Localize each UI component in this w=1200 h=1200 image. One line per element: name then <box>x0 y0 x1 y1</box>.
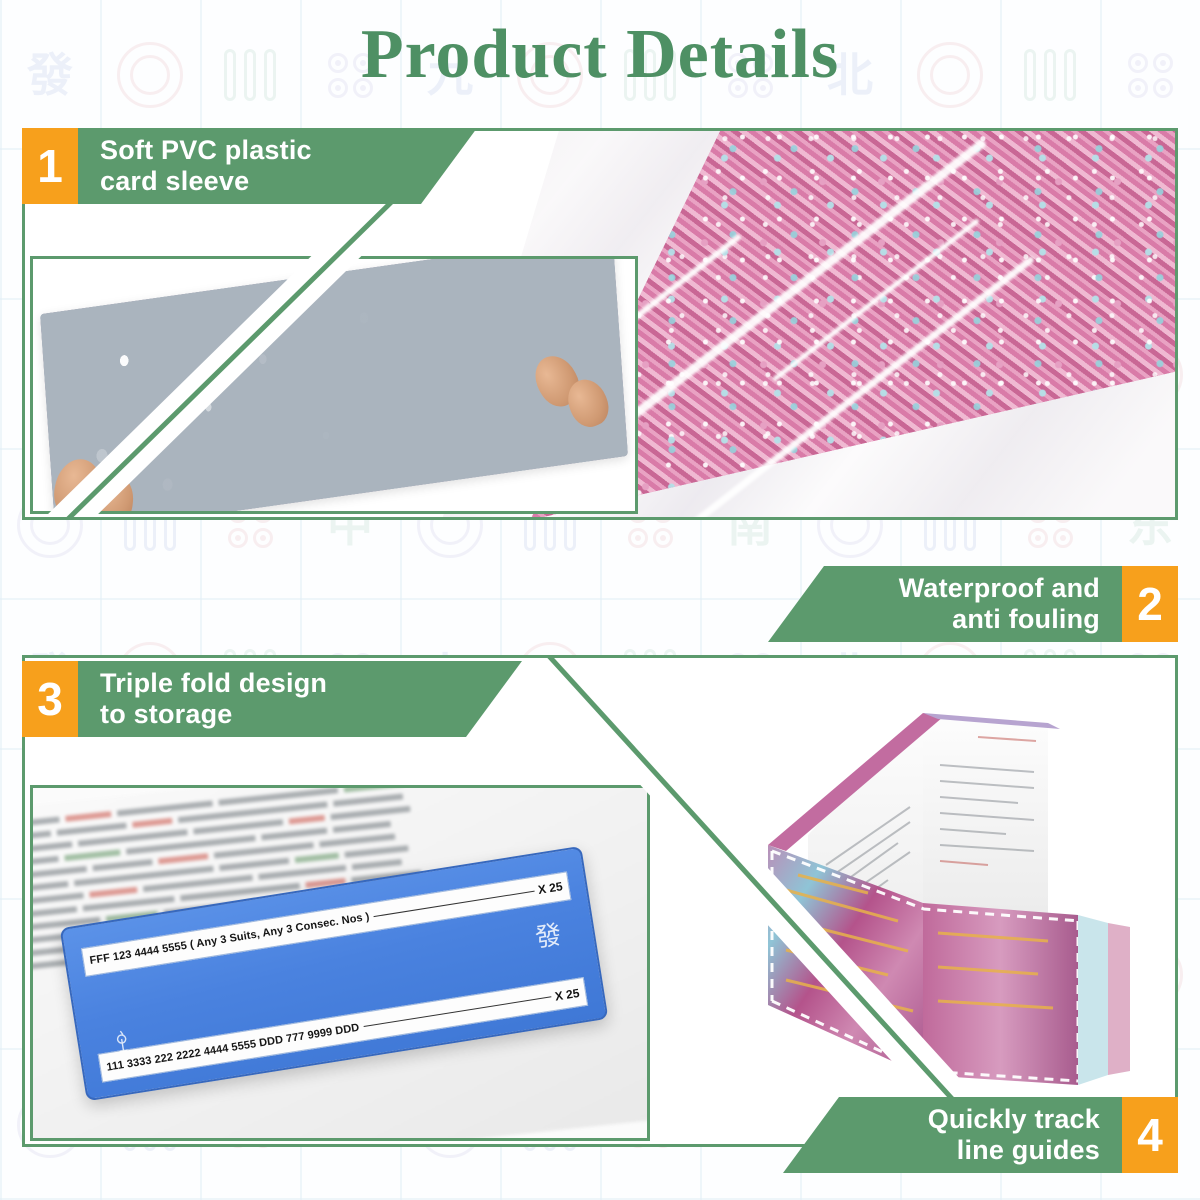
feature-banner-4[interactable]: Quickly track line guides 4 <box>783 1097 1178 1173</box>
line-guide-top-value: X 25 <box>537 879 564 897</box>
line-guide-photo: FFF 123 4444 5555 ( Any 3 Suits, Any 3 C… <box>30 785 650 1141</box>
feature-label-3-line2: to storage <box>100 699 327 730</box>
mahjong-character: 發 <box>532 914 563 955</box>
feature-label-4-line1: Quickly track <box>928 1104 1100 1135</box>
feature-label-1: Soft PVC plastic card sleeve <box>78 128 477 204</box>
feature-label-1-line1: Soft PVC plastic <box>100 135 312 166</box>
bird-icon <box>110 1028 136 1057</box>
feature-label-2-line1: Waterproof and <box>899 573 1100 604</box>
waterproof-sleeve-photo <box>30 256 638 514</box>
feature-label-3-line1: Triple fold design <box>100 668 327 699</box>
trifold-wallet-art <box>748 675 1148 1095</box>
feature-banner-2[interactable]: Waterproof and anti fouling 2 <box>768 566 1178 642</box>
feature-label-1-line2: card sleeve <box>100 166 312 197</box>
line-guide-bottom-value: X 25 <box>554 986 581 1004</box>
feature-banner-3[interactable]: 3 Triple fold design to storage <box>22 661 522 737</box>
feature-label-4: Quickly track line guides <box>783 1097 1122 1173</box>
slot-leader-line <box>363 997 551 1028</box>
feature-label-2: Waterproof and anti fouling <box>768 566 1122 642</box>
feature-label-3: Triple fold design to storage <box>78 661 522 737</box>
feature-banner-1[interactable]: 1 Soft PVC plastic card sleeve <box>22 128 477 204</box>
title-bar: Product Details <box>0 18 1200 92</box>
line-guide-top-text: FFF 123 4444 5555 ( Any 3 Suits, Any 3 C… <box>89 911 371 967</box>
slot-leader-line <box>373 890 534 916</box>
feature-label-2-line2: anti fouling <box>899 604 1100 635</box>
trifold-wallet-photo <box>748 675 1148 1095</box>
feature-label-4-line2: line guides <box>928 1135 1100 1166</box>
feature-number-badge-2: 2 <box>1122 566 1178 642</box>
feature-number-badge-1: 1 <box>22 128 78 204</box>
page-title: Product Details <box>0 18 1200 92</box>
product-details-page: Product Details <box>0 0 1200 1200</box>
feature-number-badge-4: 4 <box>1122 1097 1178 1173</box>
feature-number-badge-3: 3 <box>22 661 78 737</box>
